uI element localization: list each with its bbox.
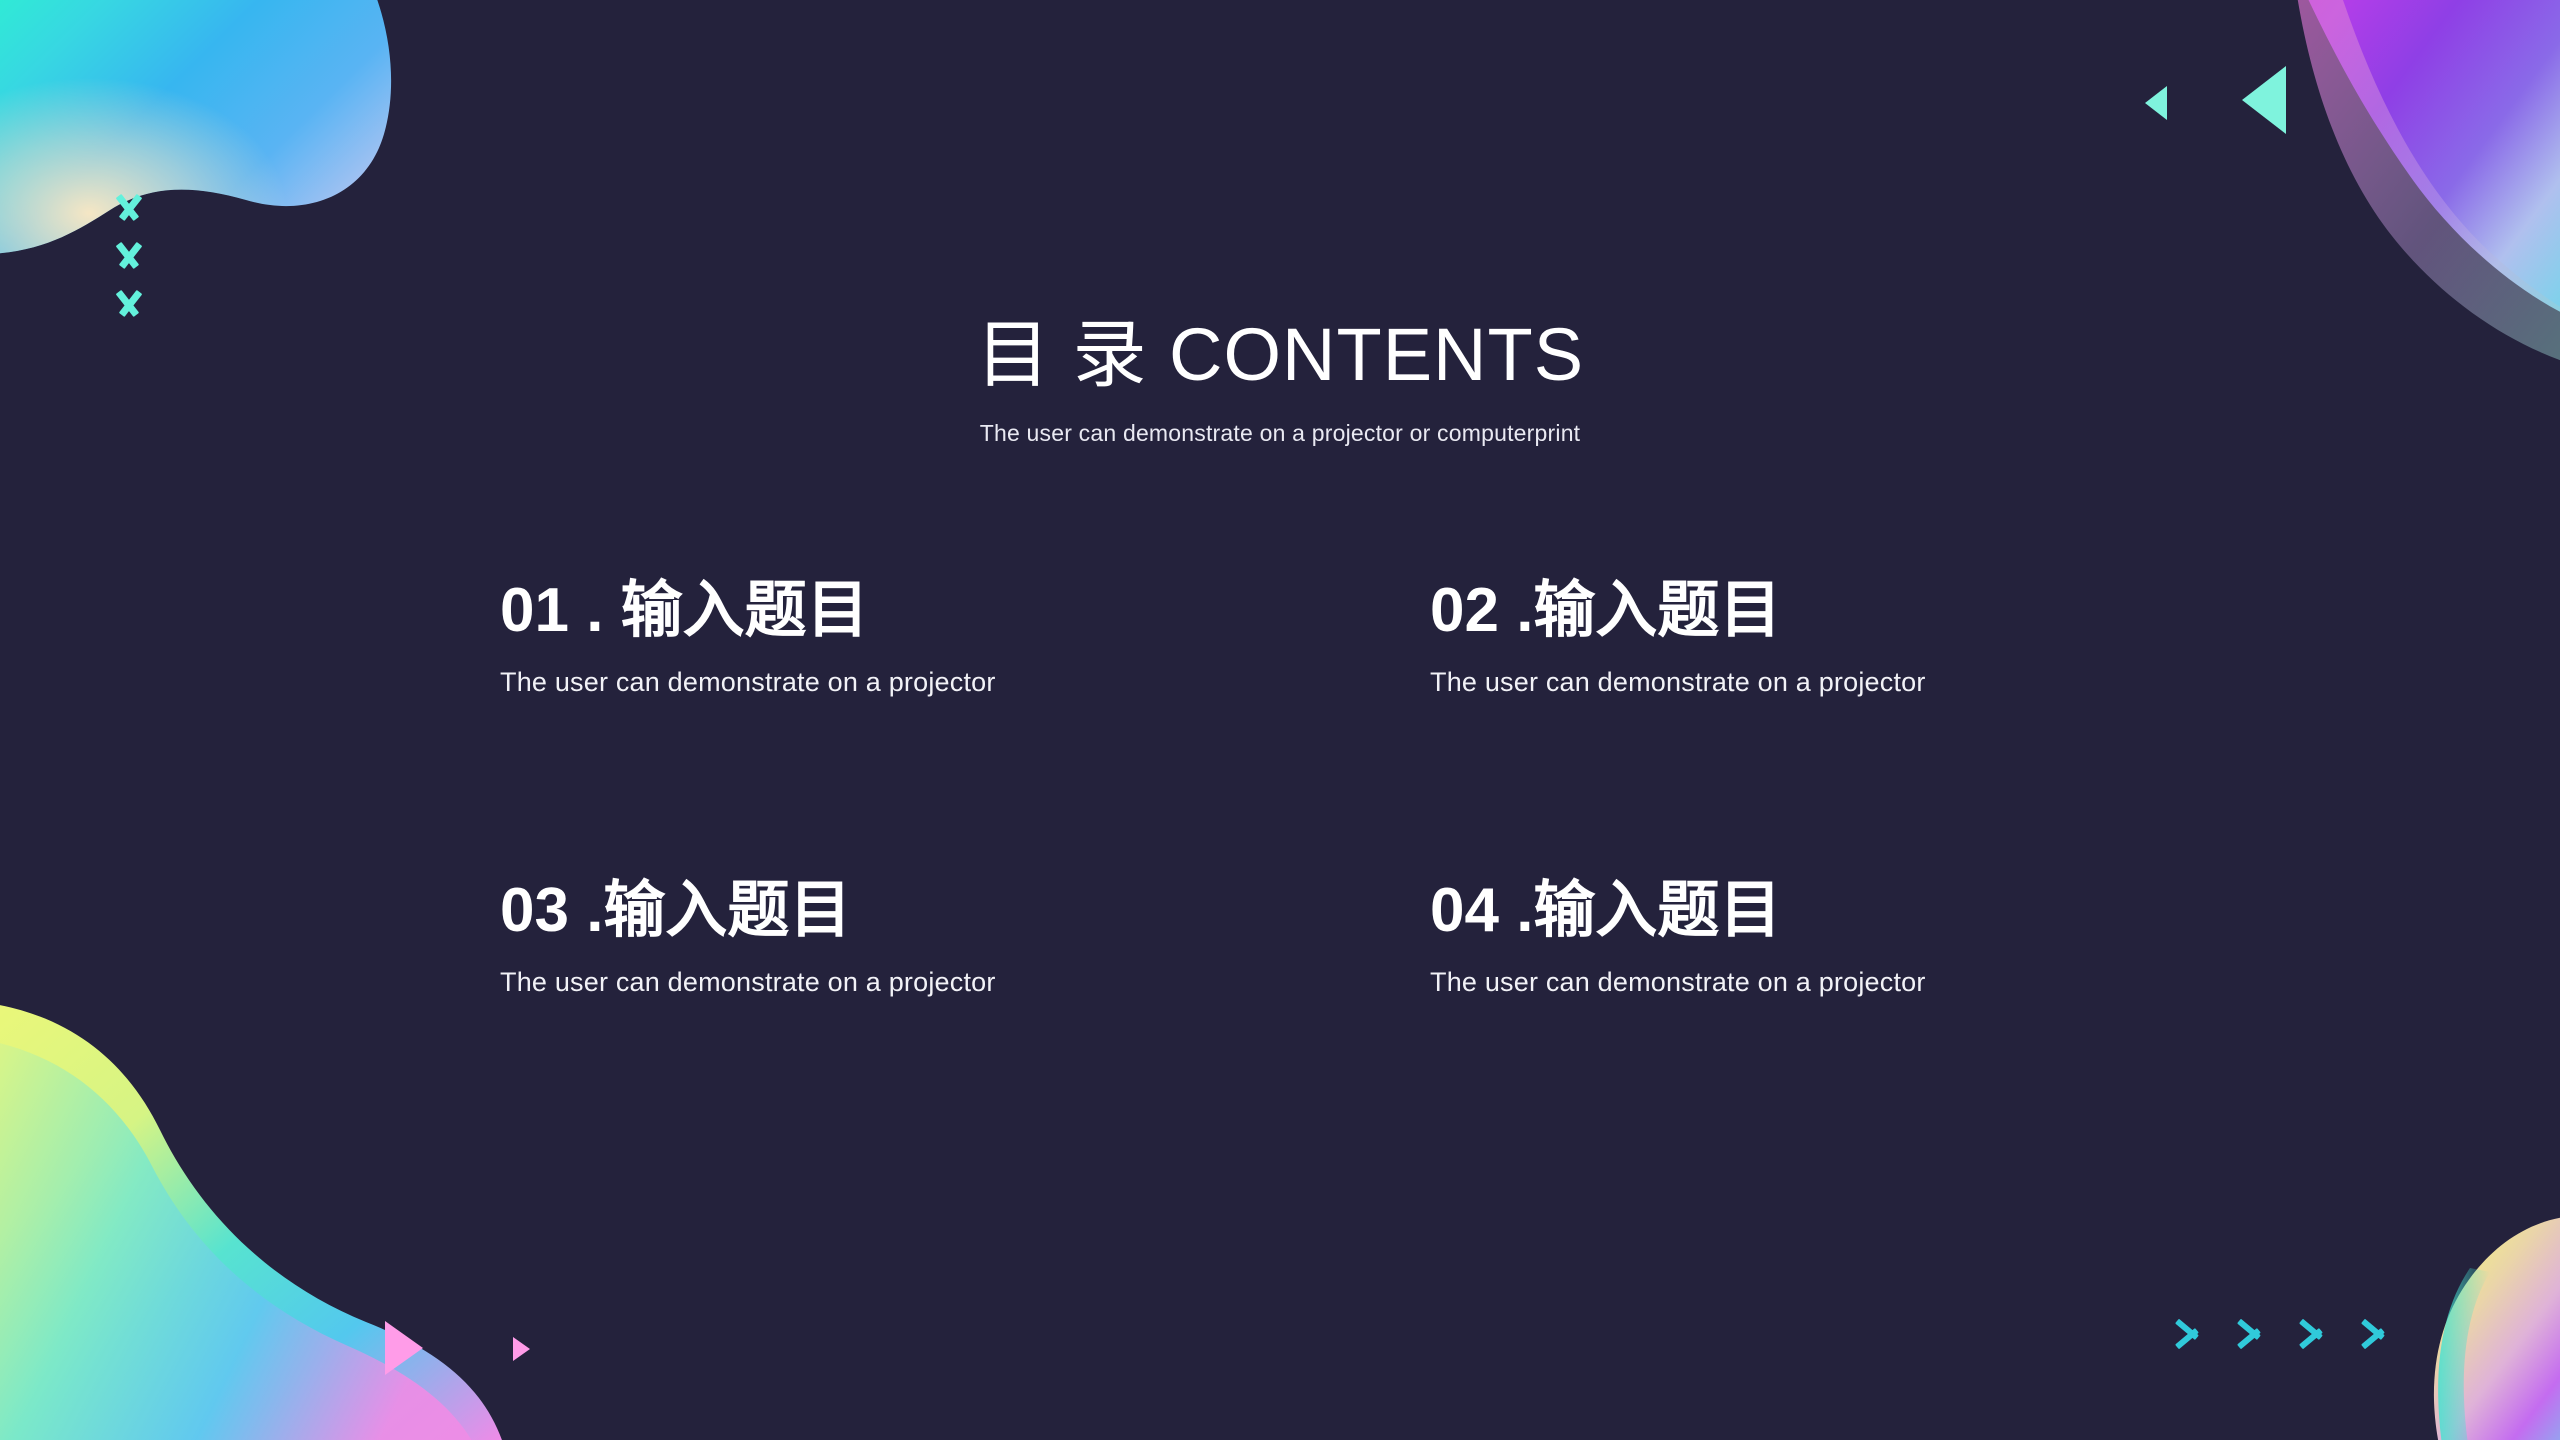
presentation-slide: 目 录 CONTENTS The user can demonstrate on… — [0, 0, 2560, 1440]
chevron-up-stack — [108, 196, 178, 336]
blob-bottom-right — [2434, 1215, 2560, 1440]
contents-item-title: 01 . 输入题目 — [500, 578, 1430, 645]
contents-item-title: 02 .输入题目 — [1430, 578, 2060, 645]
triangle-left-small-icon — [2145, 86, 2167, 120]
chevron-up-icon — [108, 244, 152, 270]
triangle-left-large-icon — [2242, 66, 2286, 134]
contents-item-description: The user can demonstrate on a projector — [500, 967, 1430, 998]
contents-item-description: The user can demonstrate on a projector — [500, 667, 1430, 698]
contents-item-title: 03 .输入题目 — [500, 878, 1430, 945]
contents-item-03[interactable]: 03 .输入题目 The user can demonstrate on a p… — [500, 878, 1430, 1178]
triangle-right-small-icon — [513, 1337, 530, 1361]
contents-grid: 01 . 输入题目 The user can demonstrate on a … — [500, 578, 2060, 1178]
contents-item-04[interactable]: 04 .输入题目 The user can demonstrate on a p… — [1430, 878, 2060, 1178]
chevron-right-icon — [2175, 1312, 2201, 1350]
chevron-up-icon — [108, 292, 152, 318]
slide-heading: 目 录 CONTENTS The user can demonstrate on… — [0, 316, 2560, 447]
contents-item-description: The user can demonstrate on a projector — [1430, 667, 2060, 698]
page-subtitle: The user can demonstrate on a projector … — [0, 420, 2560, 447]
chevron-right-icon — [2237, 1312, 2263, 1350]
blob-top-left — [0, 0, 391, 254]
triangle-right-large-icon — [385, 1321, 423, 1375]
blob-bottom-left — [0, 1000, 512, 1440]
chevron-up-icon — [108, 196, 152, 222]
contents-item-02[interactable]: 02 .输入题目 The user can demonstrate on a p… — [1430, 578, 2060, 878]
contents-item-01[interactable]: 01 . 输入题目 The user can demonstrate on a … — [500, 578, 1430, 878]
page-title: 目 录 CONTENTS — [0, 316, 2560, 394]
chevron-right-icon — [2361, 1312, 2387, 1350]
chevron-right-row — [2175, 1312, 2387, 1350]
contents-item-title: 04 .输入题目 — [1430, 878, 2060, 945]
contents-item-description: The user can demonstrate on a projector — [1430, 967, 2060, 998]
chevron-right-icon — [2299, 1312, 2325, 1350]
